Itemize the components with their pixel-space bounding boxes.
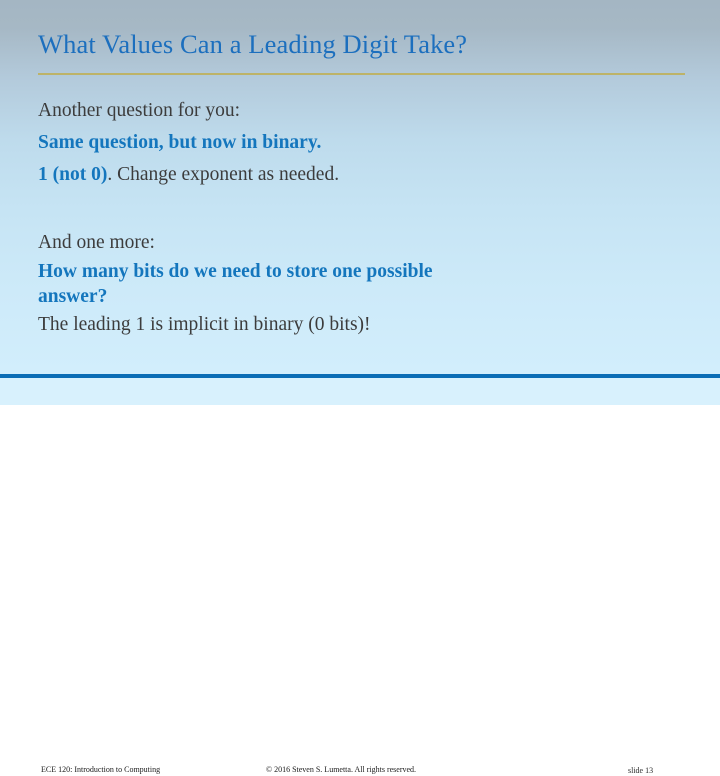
footer-copyright-label: © 2016 Steven S. Lumetta. All rights res…	[266, 764, 416, 775]
body-line-one-not-zero-highlight: 1 (not 0)	[38, 164, 107, 185]
body-line-one-not-zero: 1 (not 0). Change exponent as needed.	[38, 159, 688, 191]
body-content: Another question for you: Same question,…	[38, 95, 688, 341]
body-line-and-one-more: And one more:	[38, 227, 688, 259]
title-underline-rule	[38, 73, 685, 75]
page-title: What Values Can a Leading Digit Take?	[38, 28, 686, 60]
body-line-how-many-bits: How many bits do we need to store one po…	[38, 259, 478, 309]
body-line-same-question: Same question, but now in binary.	[38, 127, 688, 159]
title-area: What Values Can a Leading Digit Take?	[38, 28, 686, 60]
body-line-another-question: Another question for you:	[38, 95, 688, 127]
body-line-one-not-zero-rest: . Change exponent as needed.	[107, 164, 339, 185]
footer-course-label: ECE 120: Introduction to Computing	[41, 764, 160, 775]
footer-strip: ECE 120: Introduction to Computing © 201…	[0, 378, 720, 405]
slide-canvas: What Values Can a Leading Digit Take? An…	[0, 0, 720, 405]
body-line-leading-one-implicit: The leading 1 is implicit in binary (0 b…	[38, 309, 688, 341]
body-spacer	[38, 191, 688, 227]
footer-slide-number: slide 13	[628, 765, 653, 776]
